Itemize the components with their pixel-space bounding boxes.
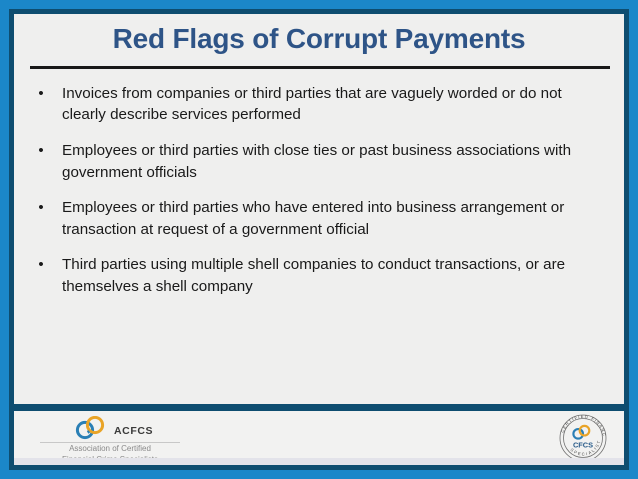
- footer-divider-band: [14, 404, 624, 411]
- slide-footer: ACFCS Association of Certified Financial…: [14, 411, 624, 465]
- page-title: Red Flags of Corrupt Payments: [14, 14, 624, 55]
- acfcs-wordmark: ACFCS: [114, 425, 153, 437]
- slide: Red Flags of Corrupt Payments • Invoices…: [0, 0, 638, 479]
- slide-content: Red Flags of Corrupt Payments • Invoices…: [14, 14, 624, 404]
- footer-bottom-strip: [14, 458, 624, 465]
- bullet-point-icon: •: [20, 197, 62, 218]
- list-item: • Employees or third parties with close …: [20, 140, 606, 183]
- list-item-text: Third parties using multiple shell compa…: [62, 254, 606, 297]
- list-item: • Third parties using multiple shell com…: [20, 254, 606, 297]
- svg-text:CFCS: CFCS: [573, 441, 593, 450]
- bullet-point-icon: •: [20, 83, 62, 104]
- interlocking-rings-icon: [72, 416, 112, 440]
- acfcs-tagline-line1: Association of Certified: [34, 444, 186, 455]
- list-item: • Invoices from companies or third parti…: [20, 83, 606, 126]
- bullet-list: • Invoices from companies or third parti…: [14, 69, 624, 298]
- list-item-text: Invoices from companies or third parties…: [62, 83, 606, 126]
- cfcs-seal-logo: CERTIFIED FINANCIAL CRIME SPECIALIST CFC…: [556, 411, 610, 465]
- bullet-point-icon: •: [20, 254, 62, 275]
- list-item-text: Employees or third parties with close ti…: [62, 140, 606, 183]
- list-item: • Employees or third parties who have en…: [20, 197, 606, 240]
- acfcs-divider: [40, 442, 180, 443]
- acfcs-logo: ACFCS Association of Certified Financial…: [26, 415, 256, 463]
- bullet-point-icon: •: [20, 140, 62, 161]
- list-item-text: Employees or third parties who have ente…: [62, 197, 606, 240]
